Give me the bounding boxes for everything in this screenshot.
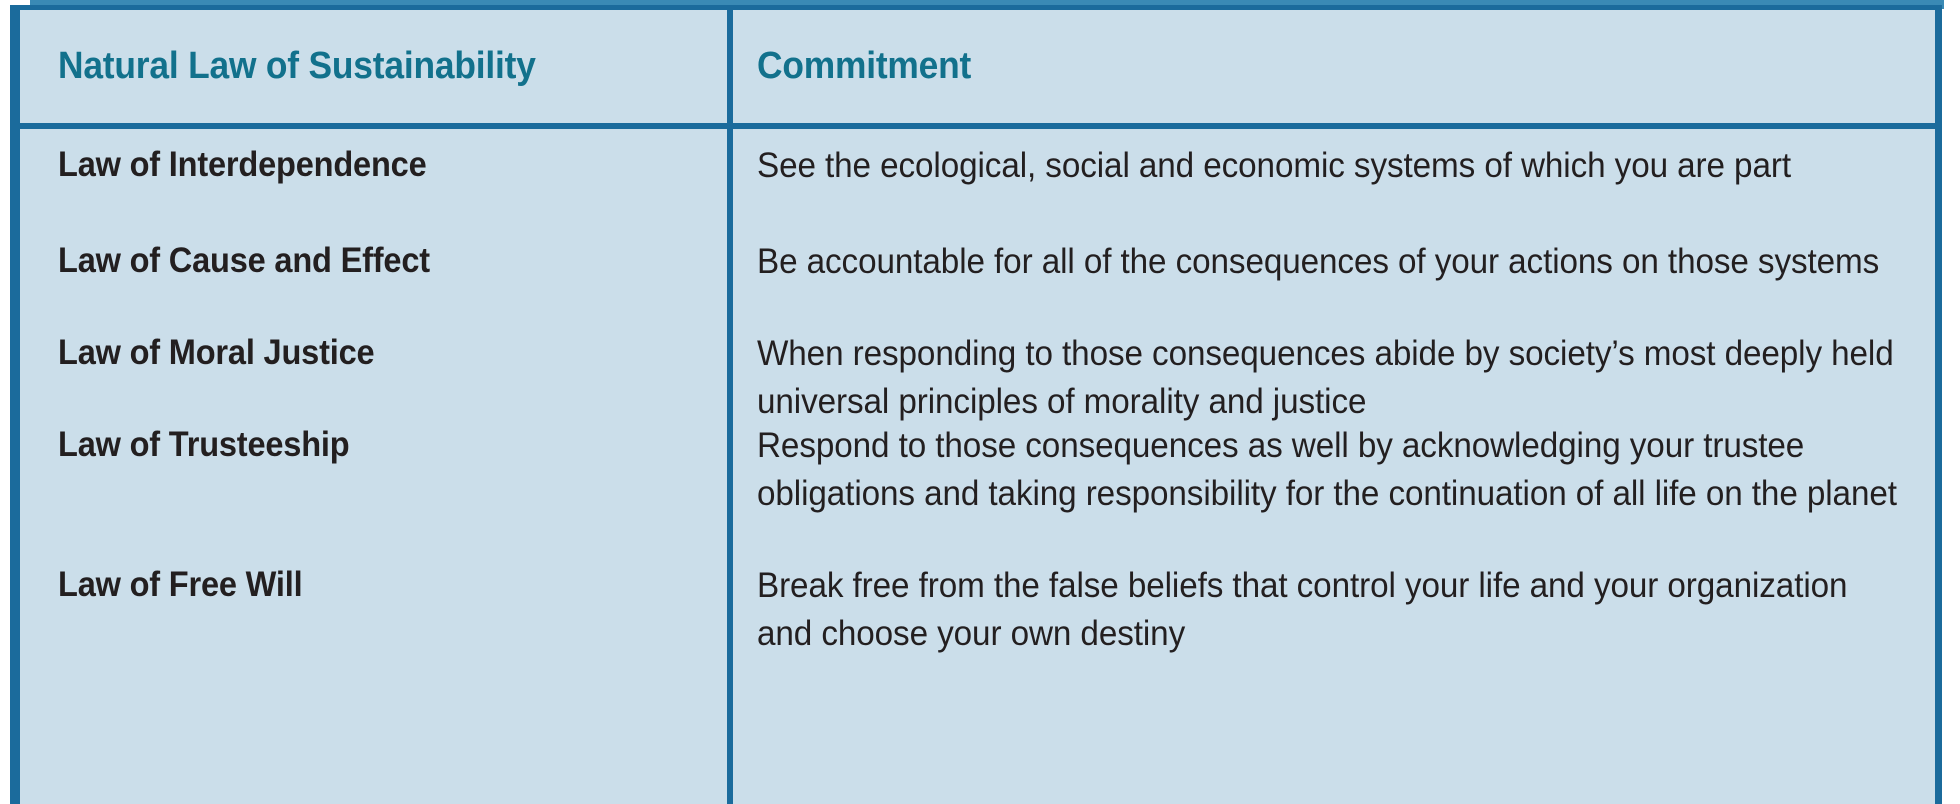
commitment-text: Break free from the false beliefs that c… [757,562,1908,658]
table-row: Law of Interdependence See the ecologica… [20,142,1935,190]
commitment-text: When responding to those consequences ab… [757,330,1908,426]
table-row: Law of Moral Justice When responding to … [20,330,1935,426]
table-header-row: Natural Law of Sustainability Commitment [20,10,1935,123]
table-row: Law of Free Will Break free from the fal… [20,562,1935,658]
row-cell-commitment: See the ecological, social and economic … [727,142,1935,190]
law-name: Law of Interdependence [58,142,662,188]
table-grid: Natural Law of Sustainability Commitment… [20,10,1935,804]
commitment-text: Be accountable for all of the consequenc… [757,238,1908,286]
column-header-commitment: Commitment [757,45,1830,88]
table-row: Law of Trusteeship Respond to those cons… [20,422,1935,518]
row-cell-law: Law of Trusteeship [20,422,727,518]
row-cell-law: Law of Free Will [20,562,727,658]
column-header-natural-law: Natural Law of Sustainability [58,45,662,88]
law-name: Law of Trusteeship [58,422,662,468]
commitment-text: Respond to those consequences as well by… [757,422,1908,518]
commitment-text: See the ecological, social and economic … [757,142,1908,190]
header-cell-law: Natural Law of Sustainability [20,45,727,88]
row-cell-law: Law of Moral Justice [20,330,727,426]
law-name: Law of Free Will [58,562,662,608]
row-cell-commitment: When responding to those consequences ab… [727,330,1935,426]
table-row: Law of Cause and Effect Be accountable f… [20,238,1935,286]
header-cell-commitment: Commitment [727,45,1935,88]
header-rule [20,123,1935,129]
law-name: Law of Moral Justice [58,330,662,376]
row-cell-commitment: Break free from the false beliefs that c… [727,562,1935,658]
row-cell-commitment: Respond to those consequences as well by… [727,422,1935,518]
law-name: Law of Cause and Effect [58,238,662,284]
row-cell-law: Law of Interdependence [20,142,727,190]
row-cell-law: Law of Cause and Effect [20,238,727,286]
sustainability-laws-table: Natural Law of Sustainability Commitment… [10,5,1942,804]
row-cell-commitment: Be accountable for all of the consequenc… [727,238,1935,286]
